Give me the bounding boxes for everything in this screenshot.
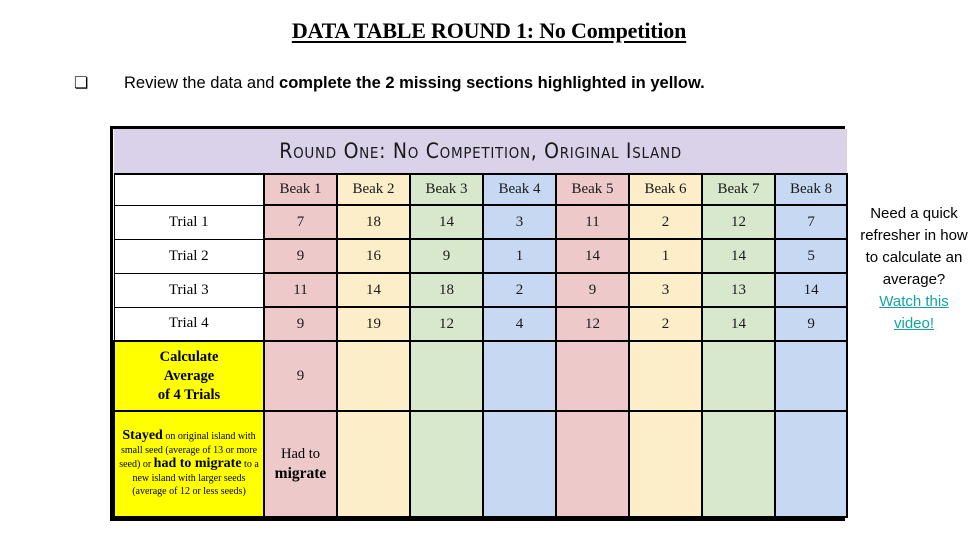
column-header-beak-7: Beak 7: [702, 174, 775, 205]
data-table-grid: Round One: No Competition, Original Isla…: [113, 129, 848, 518]
cell-trial-1-beak-3[interactable]: 14: [410, 205, 483, 239]
cell-trial-3-beak-6[interactable]: 3: [629, 273, 702, 307]
average-label-line-2: Average: [115, 367, 263, 386]
row-label-stayed-or-migrated: Stayed on original island with small see…: [114, 411, 264, 517]
cell-trial-1-beak-2[interactable]: 18: [337, 205, 410, 239]
cell-average-beak-5[interactable]: [556, 341, 629, 411]
cell-trial-1-beak-5[interactable]: 11: [556, 205, 629, 239]
watch-video-link[interactable]: Watch this video!: [858, 291, 970, 335]
column-header-beak-2: Beak 2: [337, 174, 410, 205]
table-row: Trial 4 9 19 12 4 12 2 14 9: [114, 307, 847, 341]
cell-trial-1-beak-4[interactable]: 3: [483, 205, 556, 239]
average-row: Calculate Average of 4 Trials 9: [114, 341, 847, 411]
cell-trial-3-beak-4[interactable]: 2: [483, 273, 556, 307]
column-header-beak-6: Beak 6: [629, 174, 702, 205]
column-header-beak-4: Beak 4: [483, 174, 556, 205]
cell-trial-2-beak-7[interactable]: 14: [702, 239, 775, 273]
cell-trial-4-beak-8[interactable]: 9: [775, 307, 847, 341]
row-label-trial-4: Trial 4: [114, 307, 264, 341]
cell-trial-2-beak-3[interactable]: 9: [410, 239, 483, 273]
row-label-trial-1: Trial 1: [114, 205, 264, 239]
table-caption-row: Round One: No Competition, Original Isla…: [114, 129, 847, 174]
square-bullet-icon: ❏: [74, 72, 96, 94]
cell-outcome-beak-1[interactable]: Had to migrate: [264, 411, 337, 517]
outcome-beak-1-line-1: Had to: [265, 444, 336, 464]
row-label-trial-2: Trial 2: [114, 239, 264, 273]
cell-trial-4-beak-6[interactable]: 2: [629, 307, 702, 341]
cell-outcome-beak-3[interactable]: [410, 411, 483, 517]
cell-trial-4-beak-3[interactable]: 12: [410, 307, 483, 341]
cell-average-beak-2[interactable]: [337, 341, 410, 411]
cell-trial-1-beak-1[interactable]: 7: [264, 205, 337, 239]
row-label-calculate-average: Calculate Average of 4 Trials: [114, 341, 264, 411]
cell-trial-2-beak-6[interactable]: 1: [629, 239, 702, 273]
table-row: Trial 2 9 16 9 1 14 1 14 5: [114, 239, 847, 273]
column-header-beak-8: Beak 8: [775, 174, 847, 205]
cell-average-beak-7[interactable]: [702, 341, 775, 411]
cell-trial-2-beak-2[interactable]: 16: [337, 239, 410, 273]
average-label-line-3: of 4 Trials: [115, 386, 263, 405]
instruction-prefix: Review the data and: [124, 74, 279, 92]
side-note-text: Need a quick refresher in how to calcula…: [860, 205, 968, 288]
cell-trial-2-beak-8[interactable]: 5: [775, 239, 847, 273]
cell-trial-4-beak-4[interactable]: 4: [483, 307, 556, 341]
cell-average-beak-4[interactable]: [483, 341, 556, 411]
cell-trial-3-beak-3[interactable]: 18: [410, 273, 483, 307]
cell-trial-3-beak-7[interactable]: 13: [702, 273, 775, 307]
column-header-beak-3: Beak 3: [410, 174, 483, 205]
cell-trial-2-beak-1[interactable]: 9: [264, 239, 337, 273]
outcome-note-migrate: had to migrate: [154, 456, 242, 471]
outcome-beak-1-line-2: migrate: [265, 464, 336, 484]
instruction-row: ❏ Review the data and complete the 2 mis…: [74, 72, 904, 94]
instruction-text: Review the data and complete the 2 missi…: [124, 72, 705, 94]
cell-trial-4-beak-1[interactable]: 9: [264, 307, 337, 341]
cell-trial-3-beak-2[interactable]: 14: [337, 273, 410, 307]
cell-trial-3-beak-1[interactable]: 11: [264, 273, 337, 307]
outcome-note-stayed: Stayed: [122, 428, 162, 443]
cell-trial-4-beak-2[interactable]: 19: [337, 307, 410, 341]
cell-average-beak-3[interactable]: [410, 341, 483, 411]
cell-outcome-beak-5[interactable]: [556, 411, 629, 517]
column-header-beak-1: Beak 1: [264, 174, 337, 205]
cell-outcome-beak-7[interactable]: [702, 411, 775, 517]
average-label-line-1: Calculate: [115, 348, 263, 367]
cell-trial-4-beak-5[interactable]: 12: [556, 307, 629, 341]
cell-average-beak-6[interactable]: [629, 341, 702, 411]
cell-trial-1-beak-8[interactable]: 7: [775, 205, 847, 239]
cell-outcome-beak-6[interactable]: [629, 411, 702, 517]
cell-trial-2-beak-4[interactable]: 1: [483, 239, 556, 273]
data-table: Round One: No Competition, Original Isla…: [110, 126, 845, 521]
page-title: DATA TABLE ROUND 1: No Competition: [0, 18, 978, 44]
row-label-trial-3: Trial 3: [114, 273, 264, 307]
cell-trial-2-beak-5[interactable]: 14: [556, 239, 629, 273]
instruction-bold: complete the 2 missing sections highligh…: [279, 74, 705, 92]
table-row: Trial 3 11 14 18 2 9 3 13 14: [114, 273, 847, 307]
table-header-row: Beak 1 Beak 2 Beak 3 Beak 4 Beak 5 Beak …: [114, 174, 847, 205]
table-row: Trial 1 7 18 14 3 11 2 12 7: [114, 205, 847, 239]
column-header-beak-5: Beak 5: [556, 174, 629, 205]
outcome-row: Stayed on original island with small see…: [114, 411, 847, 517]
cell-outcome-beak-8[interactable]: [775, 411, 847, 517]
table-caption: Round One: No Competition, Original Isla…: [114, 129, 847, 174]
cell-outcome-beak-4[interactable]: [483, 411, 556, 517]
cell-trial-3-beak-5[interactable]: 9: [556, 273, 629, 307]
cell-average-beak-1[interactable]: 9: [264, 341, 337, 411]
header-corner-cell: [114, 174, 264, 205]
cell-trial-3-beak-8[interactable]: 14: [775, 273, 847, 307]
side-note: Need a quick refresher in how to calcula…: [858, 203, 970, 335]
cell-average-beak-8[interactable]: [775, 341, 847, 411]
cell-trial-1-beak-6[interactable]: 2: [629, 205, 702, 239]
cell-trial-1-beak-7[interactable]: 12: [702, 205, 775, 239]
cell-trial-4-beak-7[interactable]: 14: [702, 307, 775, 341]
cell-outcome-beak-2[interactable]: [337, 411, 410, 517]
